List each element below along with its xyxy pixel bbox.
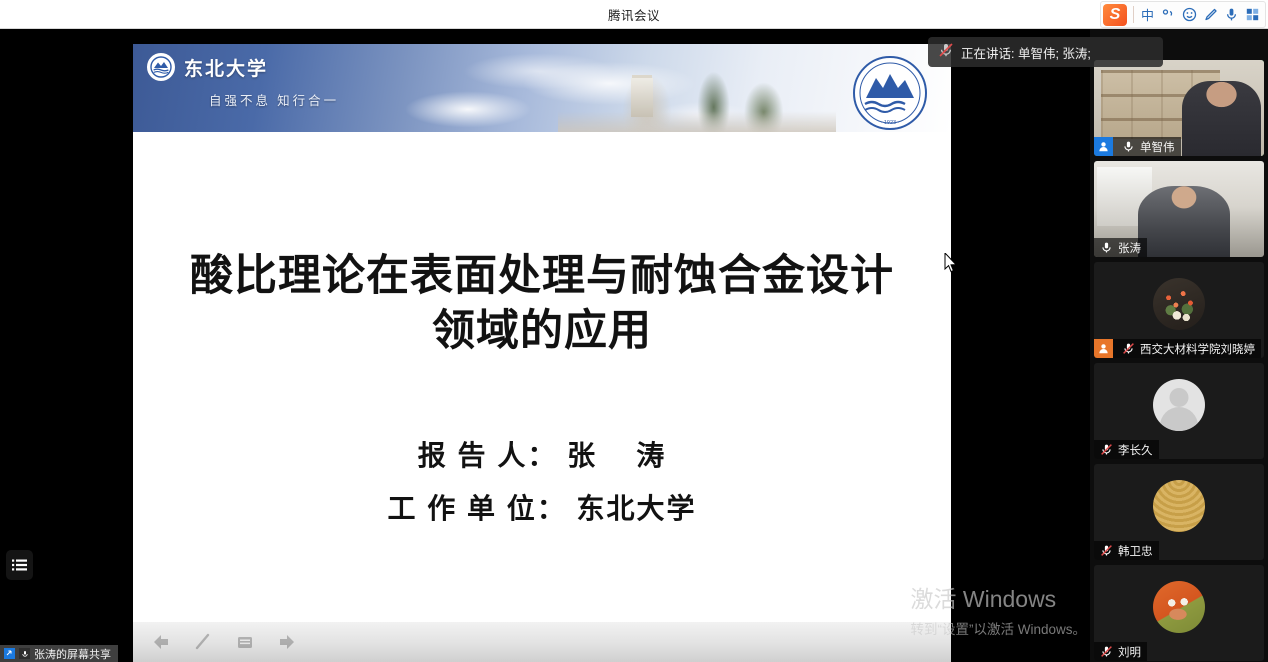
participant-name: 刘明 — [1118, 644, 1141, 660]
ime-emoji-icon[interactable] — [1179, 4, 1200, 26]
sogou-logo-icon[interactable]: S — [1103, 4, 1127, 26]
slideshow-control-bar[interactable] — [133, 622, 951, 662]
screen-share-status-bar[interactable]: 张涛的屏幕共享 — [0, 645, 118, 662]
speaking-banner: 正在讲话: 单智伟; 张涛; — [928, 37, 1163, 67]
ime-punctuation-icon[interactable] — [1158, 4, 1179, 26]
ime-toolbar[interactable]: S 中 — [1100, 1, 1266, 28]
affiliation-line: 工 作 单 位： 东北大学 — [133, 482, 951, 535]
participant-name: 单智伟 — [1140, 139, 1175, 155]
share-status-text: 张涛的屏幕共享 — [34, 646, 111, 662]
mic-muted-icon — [938, 42, 954, 63]
university-emblem-icon: · 1923 · — [851, 54, 929, 132]
mic-on-icon — [1099, 240, 1114, 255]
participant-tile[interactable]: 李长久 — [1094, 363, 1264, 459]
speaking-banner-text: 正在讲话: 单智伟; 张涛; — [961, 43, 1091, 62]
participant-label: 李长久 — [1094, 440, 1159, 459]
participant-name: 李长久 — [1118, 442, 1153, 458]
participant-avatar — [1153, 379, 1205, 431]
university-motto: 自强不息 知行合一 — [209, 90, 339, 109]
mic-muted-icon — [1099, 442, 1114, 457]
participant-rail[interactable]: 正在讲话: 单智伟; 张涛; 单智伟 张涛 — [1090, 29, 1268, 662]
slide-pen-button[interactable] — [191, 631, 215, 653]
mic-muted-icon — [1099, 644, 1114, 659]
participant-label: 韩卫忠 — [1094, 541, 1159, 560]
participant-name: 西交大材料学院刘晓婷 — [1140, 341, 1255, 357]
participant-tile[interactable]: 韩卫忠 — [1094, 464, 1264, 560]
participant-avatar — [1153, 581, 1205, 633]
presenter-line: 报 告 人： 张 涛 — [133, 429, 951, 482]
slide-prev-button[interactable] — [149, 631, 173, 653]
participants-list-toggle-button[interactable] — [6, 550, 33, 580]
powerpoint-slide[interactable]: 东北大学 自强不息 知行合一 · 1923 · 酸比理论在表面处理与耐蚀合金设计… — [133, 44, 951, 662]
participant-tile[interactable]: 西交大材料学院刘晓婷 — [1094, 262, 1264, 358]
title-bar: 腾讯会议 — [0, 0, 1268, 29]
shared-screen-area[interactable]: 东北大学 自强不息 知行合一 · 1923 · 酸比理论在表面处理与耐蚀合金设计… — [0, 29, 1090, 662]
slide-next-button[interactable] — [275, 631, 299, 653]
share-screen-icon — [4, 648, 15, 659]
ime-handwriting-icon[interactable] — [1200, 4, 1221, 26]
ime-divider — [1133, 6, 1134, 23]
slide-header-banner: 东北大学 自强不息 知行合一 · 1923 · — [133, 44, 951, 132]
participant-label: 西交大材料学院刘晓婷 — [1094, 339, 1261, 358]
mouse-cursor-icon — [944, 253, 958, 273]
participant-label: 单智伟 — [1094, 137, 1181, 156]
mic-muted-icon — [1099, 543, 1114, 558]
slide-presenter-block: 报 告 人： 张 涛 工 作 单 位： 东北大学 — [133, 429, 951, 535]
mic-muted-icon — [1121, 341, 1136, 356]
banner-campus-gate-image — [558, 63, 836, 132]
ime-toolbox-icon[interactable] — [1242, 4, 1263, 26]
ime-mode-chinese-icon[interactable]: 中 — [1137, 4, 1158, 26]
mic-on-icon — [1121, 139, 1136, 154]
university-seal-small-icon — [147, 53, 175, 81]
participant-tile[interactable]: 刘明 — [1094, 565, 1264, 661]
host-badge-icon — [1094, 137, 1113, 156]
participant-label: 张涛 — [1094, 238, 1147, 257]
university-logo: 东北大学 — [147, 53, 268, 81]
university-name: 东北大学 — [184, 54, 268, 81]
meeting-window: 腾讯会议 S 中 — [0, 0, 1268, 662]
slide-menu-button[interactable] — [233, 631, 257, 653]
ime-voice-icon[interactable] — [1221, 4, 1242, 26]
slide-title: 酸比理论在表面处理与耐蚀合金设计领域的应用 — [173, 249, 911, 359]
participant-tile[interactable]: 张涛 — [1094, 161, 1264, 257]
participant-label: 刘明 — [1094, 642, 1147, 661]
emblem-year: · 1923 · — [881, 120, 900, 126]
window-title: 腾讯会议 — [608, 5, 660, 24]
participant-name: 韩卫忠 — [1118, 543, 1153, 559]
share-mic-icon — [19, 648, 30, 659]
participant-avatar — [1153, 278, 1205, 330]
host-badge-icon — [1094, 339, 1113, 358]
participant-avatar — [1153, 480, 1205, 532]
participant-name: 张涛 — [1118, 240, 1141, 256]
participant-tile[interactable]: 单智伟 — [1094, 60, 1264, 156]
